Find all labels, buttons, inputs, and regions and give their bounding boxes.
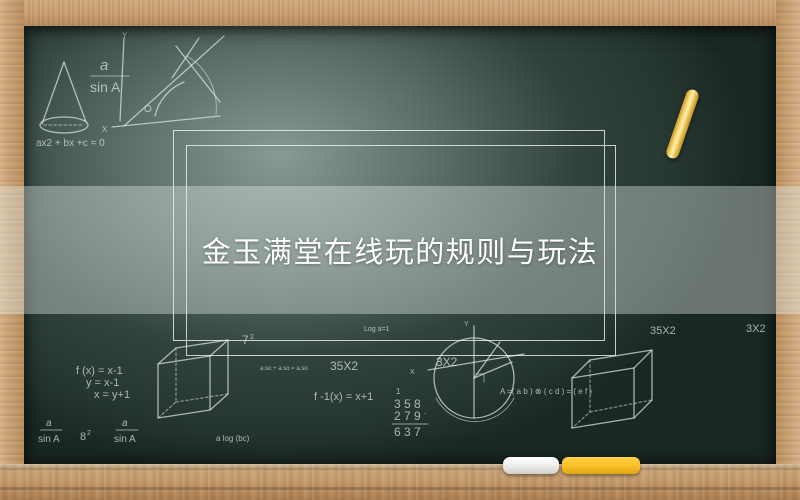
ledge-highlight <box>0 464 800 470</box>
chalkboard-banner: a sin A ax2 + bx +c = 0 Y X <box>0 0 800 500</box>
page-title: 金玉满堂在线玩的规则与玩法 <box>0 186 800 314</box>
chalk-piece-yellow <box>562 457 640 474</box>
chalk-piece-white <box>503 457 559 474</box>
frame-top-rail <box>0 0 800 26</box>
ledge-shadow-line <box>0 487 800 490</box>
